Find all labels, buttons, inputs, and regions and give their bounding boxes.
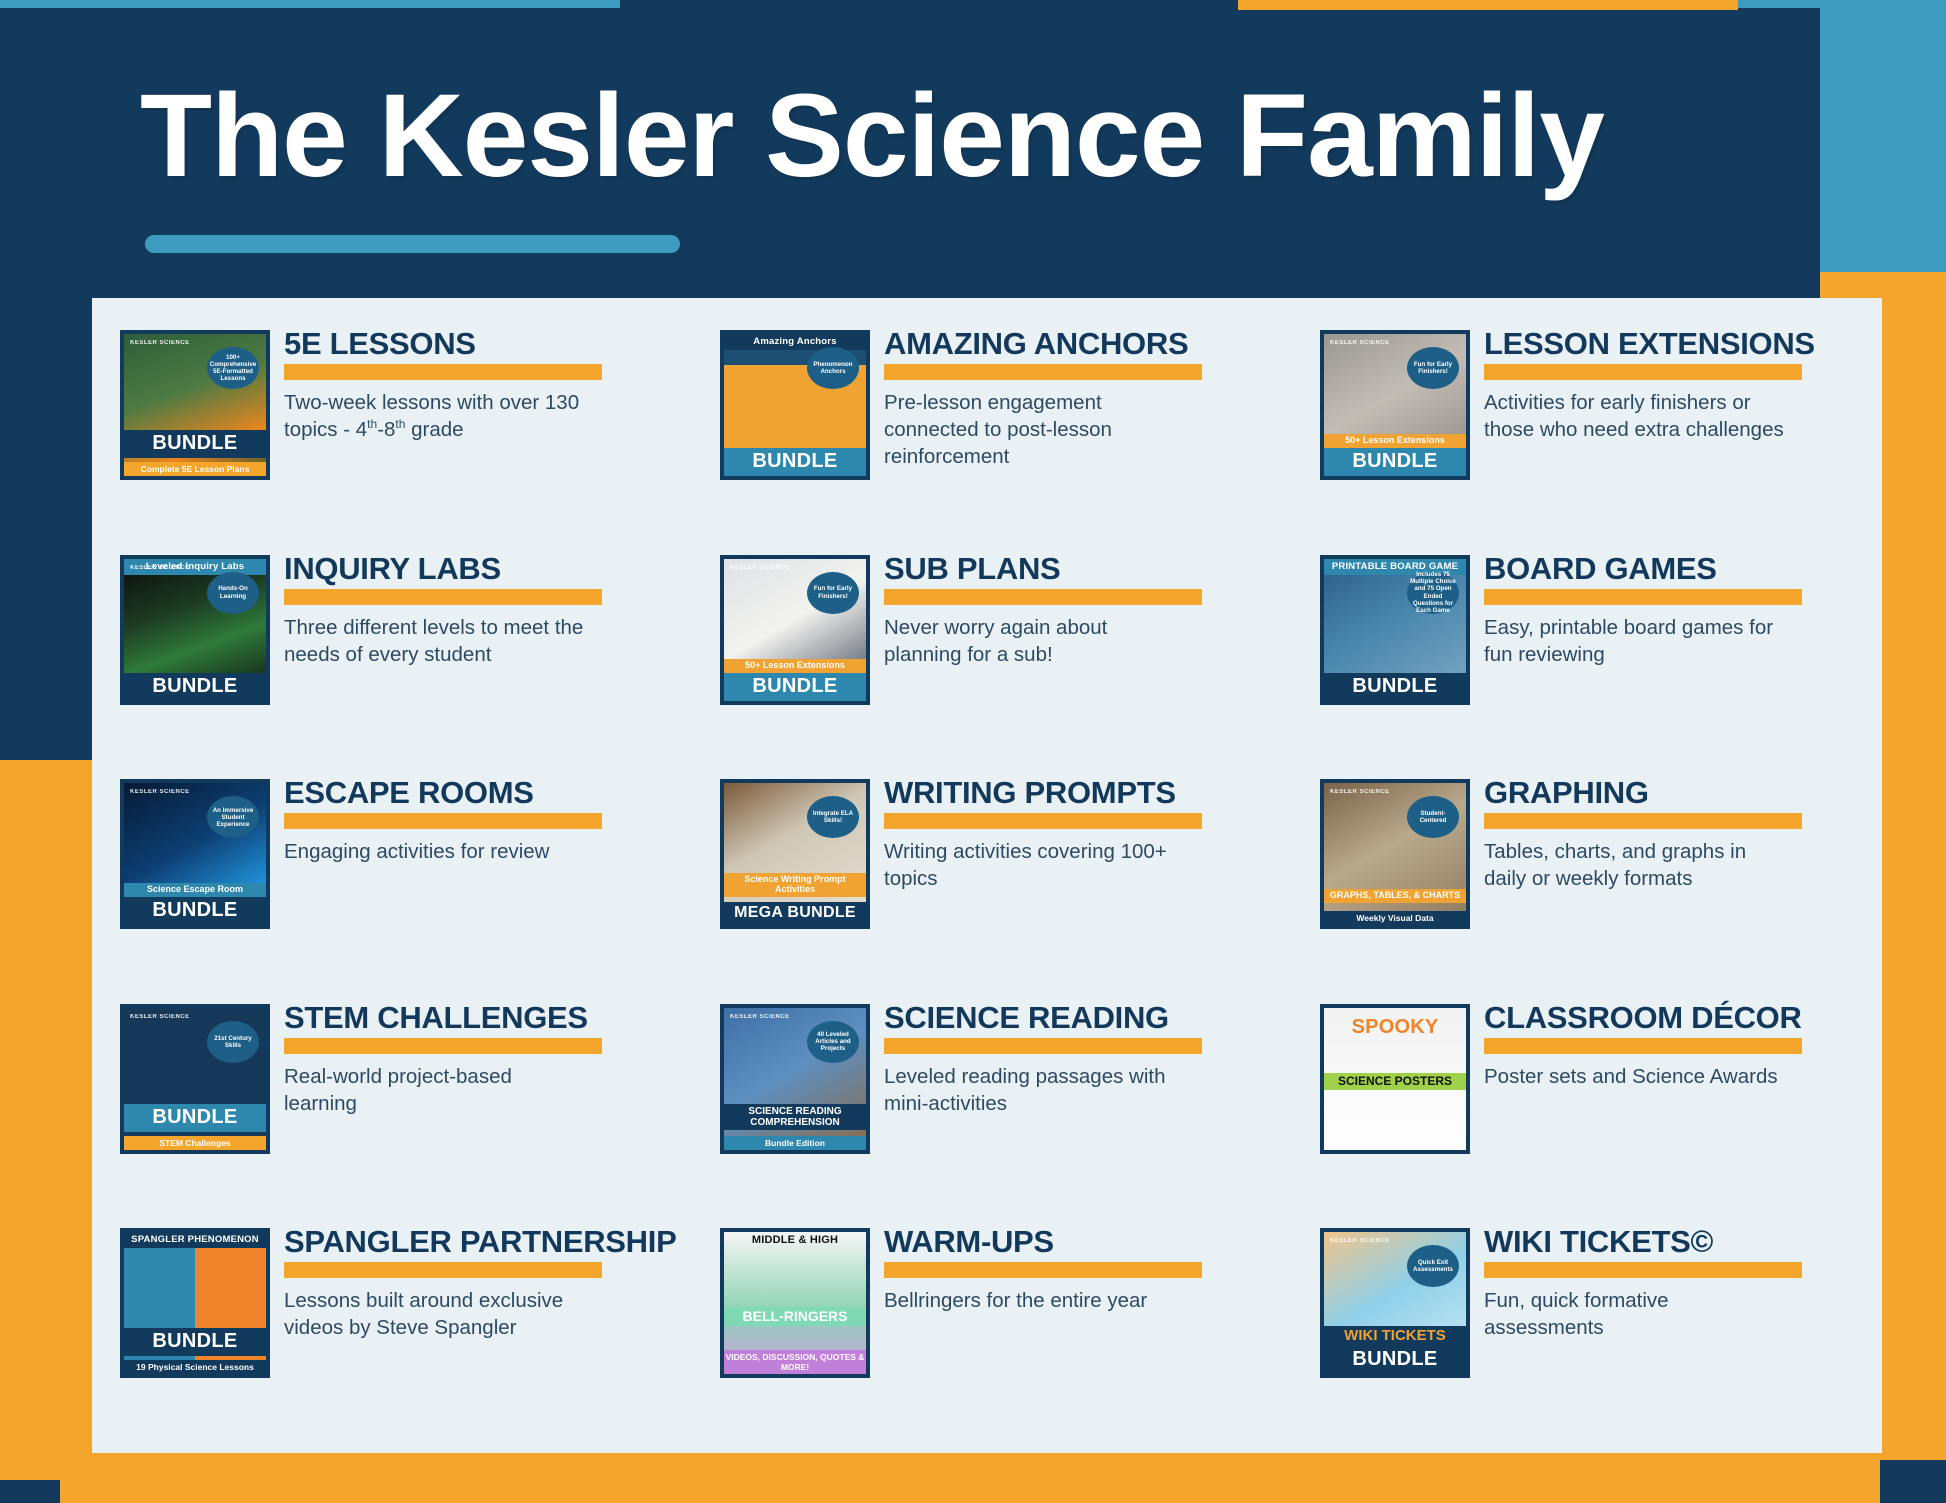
thumbnail-badge: Fun for Early Finishers! [1407, 347, 1459, 389]
title-underline-bar [1484, 1038, 1802, 1054]
title-underline-bar [884, 813, 1202, 829]
thumbnail-badge: 100+ Comprehensive 5E-Formatted Lessons [207, 347, 259, 389]
product-title: ESCAPE ROOMS [284, 777, 720, 809]
kesler-science-logo: KESLER SCIENCE [130, 789, 190, 795]
thumbnail-bundle-label: BUNDLE [724, 673, 866, 701]
title-underline-bar [284, 589, 602, 605]
product-text-block: SPANGLER PARTNERSHIPLessons built around… [284, 1224, 720, 1341]
product-thumbnail[interactable]: Amazing AnchorsPhenomenon AnchorsBUNDLE [720, 330, 870, 480]
product-title: BOARD GAMES [1484, 553, 1910, 585]
thumbnail-footnote: Bundle Edition [724, 1136, 866, 1150]
title-underline-bar [884, 589, 1202, 605]
kesler-science-logo: KESLER SCIENCE [1330, 340, 1390, 346]
product-title: SUB PLANS [884, 553, 1320, 585]
thumbnail-sub-label: BELL-RINGERS [724, 1307, 866, 1326]
title-underline-bar [884, 364, 1202, 380]
thumbnail-badge: Student-Centered [1407, 796, 1459, 838]
product-thumbnail[interactable]: SPOOKYSCIENCE POSTERS [1320, 1004, 1470, 1154]
kesler-science-logo: KESLER SCIENCE [130, 565, 190, 571]
product-text-block: INQUIRY LABSThree different levels to me… [284, 551, 720, 668]
title-underline-bar [284, 813, 602, 829]
product-card[interactable]: KESLER SCIENCEStudent-CenteredGRAPHS, TA… [1320, 769, 1910, 994]
thumbnail-badge: Hands-On Learning [207, 572, 259, 614]
product-card[interactable]: KESLER SCIENCEAn Immersive Student Exper… [120, 769, 720, 994]
kesler-science-logo: KESLER SCIENCE [1330, 1238, 1390, 1244]
product-text-block: 5E LESSONSTwo-week lessons with over 130… [284, 326, 720, 443]
product-card[interactable]: Integrate ELA Skills!Science Writing Pro… [720, 769, 1320, 994]
product-thumbnail[interactable]: KESLER SCIENCEFun for Early Finishers!50… [720, 555, 870, 705]
product-description: Leveled reading passages with mini-activ… [884, 1063, 1184, 1117]
thumbnail-bundle-label: BUNDLE [124, 430, 266, 458]
thumbnail-sub-label: Science Writing Prompt Activities [724, 873, 866, 897]
product-title: WIKI TICKETS© [1484, 1226, 1910, 1258]
thumbnail-top-label: SPANGLER PHENOMENON [124, 1232, 266, 1248]
kesler-science-logo: KESLER SCIENCE [1330, 789, 1390, 795]
thumbnail-footnote: 19 Physical Science Lessons [124, 1360, 266, 1374]
product-title: 5E LESSONS [284, 328, 720, 360]
product-text-block: STEM CHALLENGESReal-world project-based … [284, 1000, 720, 1117]
thumbnail-sub-label: WIKI TICKETS [1324, 1326, 1466, 1347]
thumbnail-bundle-label: BUNDLE [124, 897, 266, 925]
page-header: The Kesler Science Family [0, 0, 1820, 290]
product-description: Lessons built around exclusive videos by… [284, 1287, 584, 1341]
product-description: Fun, quick formative assessments [1484, 1287, 1784, 1341]
product-card[interactable]: PRINTABLE BOARD GAMEIncludes 75 Multiple… [1320, 545, 1910, 770]
product-card[interactable]: KESLER SCIENCE100+ Comprehensive 5E-Form… [120, 320, 720, 545]
thumbnail-bundle-label: BUNDLE [124, 1104, 266, 1132]
product-text-block: ESCAPE ROOMSEngaging activities for revi… [284, 775, 720, 865]
title-underline-bar [284, 1038, 602, 1054]
thumbnail-sub-label: 50+ Lesson Extensions [724, 659, 866, 673]
product-title: WRITING PROMPTS [884, 777, 1320, 809]
product-title: LESSON EXTENSIONS [1484, 328, 1910, 360]
product-text-block: GRAPHINGTables, charts, and graphs in da… [1484, 775, 1910, 892]
product-title: CLASSROOM DÉCOR [1484, 1002, 1910, 1034]
product-thumbnail[interactable]: KESLER SCIENCEAn Immersive Student Exper… [120, 779, 270, 929]
kesler-science-logo: KESLER SCIENCE [730, 565, 790, 571]
product-text-block: LESSON EXTENSIONSActivities for early fi… [1484, 326, 1910, 443]
thumbnail-bundle-label: MEGA BUNDLE [724, 902, 866, 925]
title-underline-bar [284, 364, 602, 380]
thumbnail-top-label: MIDDLE & HIGH [724, 1232, 866, 1250]
product-description: Tables, charts, and graphs in daily or w… [1484, 838, 1784, 892]
product-title: SCIENCE READING [884, 1002, 1320, 1034]
title-underline-bar [1484, 364, 1802, 380]
product-text-block: SCIENCE READINGLeveled reading passages … [884, 1000, 1320, 1117]
thumbnail-bundle-label: BUNDLE [124, 673, 266, 701]
product-card[interactable]: KESLER SCIENCEFun for Early Finishers!50… [720, 545, 1320, 770]
product-thumbnail[interactable]: KESLER SCIENCE100+ Comprehensive 5E-Form… [120, 330, 270, 480]
product-thumbnail[interactable]: KESLER SCIENCE21st Century SkillsBUNDLES… [120, 1004, 270, 1154]
product-description: Poster sets and Science Awards [1484, 1063, 1784, 1090]
kesler-science-logo: KESLER SCIENCE [130, 1014, 190, 1020]
thumbnail-badge: Includes 75 Multiple Choice and 75 Open … [1407, 572, 1459, 614]
thumbnail-bundle-label: BUNDLE [1324, 448, 1466, 476]
product-thumbnail[interactable]: KESLER SCIENCE40 Leveled Articles and Pr… [720, 1004, 870, 1154]
product-card[interactable]: Amazing AnchorsPhenomenon AnchorsBUNDLEA… [720, 320, 1320, 545]
product-description: Pre-lesson engagement connected to post-… [884, 389, 1184, 470]
product-card[interactable]: KESLER SCIENCEQuick Exit AssessmentsWIKI… [1320, 1218, 1910, 1443]
product-title: STEM CHALLENGES [284, 1002, 720, 1034]
product-thumbnail[interactable]: KESLER SCIENCEQuick Exit AssessmentsWIKI… [1320, 1228, 1470, 1378]
product-text-block: WIKI TICKETS©Fun, quick formative assess… [1484, 1224, 1910, 1341]
thumbnail-badge: An Immersive Student Experience [207, 796, 259, 838]
thumbnail-footnote: Complete 5E Lesson Plans [124, 462, 266, 476]
product-card[interactable]: KESLER SCIENCE40 Leveled Articles and Pr… [720, 994, 1320, 1219]
product-card[interactable]: SPANGLER PHENOMENONBUNDLE19 Physical Sci… [120, 1218, 720, 1443]
product-card[interactable]: MIDDLE & HIGHBELL-RINGERSVIDEOS, DISCUSS… [720, 1218, 1320, 1443]
product-title: AMAZING ANCHORS [884, 328, 1320, 360]
product-description: Never worry again about planning for a s… [884, 614, 1184, 668]
product-title: SPANGLER PARTNERSHIP [284, 1226, 720, 1258]
product-text-block: WARM-UPSBellringers for the entire year [884, 1224, 1320, 1314]
title-underline [145, 235, 680, 253]
product-title: WARM-UPS [884, 1226, 1320, 1258]
product-thumbnail[interactable]: KESLER SCIENCEFun for Early Finishers!50… [1320, 330, 1470, 480]
product-thumbnail[interactable]: MIDDLE & HIGHBELL-RINGERSVIDEOS, DISCUSS… [720, 1228, 870, 1378]
product-description: Bellringers for the entire year [884, 1287, 1184, 1314]
title-underline-bar [884, 1262, 1202, 1278]
product-thumbnail[interactable]: SPANGLER PHENOMENONBUNDLE19 Physical Sci… [120, 1228, 270, 1378]
product-text-block: BOARD GAMESEasy, printable board games f… [1484, 551, 1910, 668]
thumbnail-badge: Integrate ELA Skills! [807, 796, 859, 838]
product-title: INQUIRY LABS [284, 553, 720, 585]
product-description: Engaging activities for review [284, 838, 584, 865]
product-card[interactable]: KESLER SCIENCEFun for Early Finishers!50… [1320, 320, 1910, 545]
product-card[interactable]: SPOOKYSCIENCE POSTERSCLASSROOM DÉCORPost… [1320, 994, 1910, 1219]
product-thumbnail[interactable]: KESLER SCIENCELeveled Inquiry LabsHands-… [120, 555, 270, 705]
teal-accent-block [1820, 0, 1946, 272]
thumbnail-bundle-label: BUNDLE [724, 448, 866, 476]
thumbnail-badge: 40 Leveled Articles and Projects [807, 1021, 859, 1063]
product-thumbnail[interactable]: PRINTABLE BOARD GAMEIncludes 75 Multiple… [1320, 555, 1470, 705]
thumbnail-bundle-label: BUNDLE [124, 1328, 266, 1356]
title-underline-bar [284, 1262, 602, 1278]
kesler-science-logo: KESLER SCIENCE [130, 340, 190, 346]
product-description: Activities for early finishers or those … [1484, 389, 1784, 443]
thumbnail-bundle-label: BUNDLE [1324, 1346, 1466, 1374]
thumbnail-footnote: STEM Challenges [124, 1136, 266, 1150]
product-card[interactable]: KESLER SCIENCELeveled Inquiry LabsHands-… [120, 545, 720, 770]
product-description: Three different levels to meet the needs… [284, 614, 584, 668]
content-panel: KESLER SCIENCE100+ Comprehensive 5E-Form… [92, 298, 1882, 1453]
thumbnail-sub-label: SCIENCE POSTERS [1324, 1073, 1466, 1090]
title-underline-bar [884, 1038, 1202, 1054]
product-description: Writing activities covering 100+ topics [884, 838, 1184, 892]
product-grid: KESLER SCIENCE100+ Comprehensive 5E-Form… [92, 298, 1882, 1453]
thumbnail-sub-label: SCIENCE READING COMPREHENSION [724, 1104, 866, 1130]
page-title: The Kesler Science Family [140, 68, 1604, 204]
thumbnail-footnote: Weekly Visual Data [1324, 911, 1466, 925]
thumbnail-top-label: SPOOKY [1324, 1014, 1466, 1041]
kesler-science-logo: KESLER SCIENCE [730, 1014, 790, 1020]
thumbnail-badge: 21st Century Skills [207, 1021, 259, 1063]
title-underline-bar [1484, 1262, 1802, 1278]
thumbnail-footnote: VIDEOS, DISCUSSION, QUOTES & MORE! [724, 1350, 866, 1374]
navy-bottom-right-block [1880, 1460, 1946, 1503]
product-text-block: SUB PLANSNever worry again about plannin… [884, 551, 1320, 668]
product-thumbnail[interactable]: KESLER SCIENCEStudent-CenteredGRAPHS, TA… [1320, 779, 1470, 929]
product-description: Easy, printable board games for fun revi… [1484, 614, 1784, 668]
thumbnail-sub-label: Science Escape Room [124, 883, 266, 897]
product-thumbnail[interactable]: Integrate ELA Skills!Science Writing Pro… [720, 779, 870, 929]
thumbnail-top-label: Amazing Anchors [724, 334, 866, 350]
product-title: GRAPHING [1484, 777, 1910, 809]
thumbnail-badge: Fun for Early Finishers! [807, 572, 859, 614]
product-text-block: WRITING PROMPTSWriting activities coveri… [884, 775, 1320, 892]
navy-bottom-left-block [0, 1480, 60, 1503]
title-underline-bar [1484, 589, 1802, 605]
thumbnail-badge: Phenomenon Anchors [807, 347, 859, 389]
product-text-block: AMAZING ANCHORSPre-lesson engagement con… [884, 326, 1320, 470]
title-underline-bar [1484, 813, 1802, 829]
thumbnail-sub-label: 50+ Lesson Extensions [1324, 434, 1466, 448]
product-card[interactable]: KESLER SCIENCE21st Century SkillsBUNDLES… [120, 994, 720, 1219]
product-description: Real-world project-based learning [284, 1063, 584, 1117]
thumbnail-bundle-label: BUNDLE [1324, 673, 1466, 701]
product-description: Two-week lessons with over 130 topics - … [284, 389, 584, 443]
thumbnail-sub-label: GRAPHS, TABLES, & CHARTS [1324, 889, 1466, 903]
product-text-block: CLASSROOM DÉCORPoster sets and Science A… [1484, 1000, 1910, 1090]
